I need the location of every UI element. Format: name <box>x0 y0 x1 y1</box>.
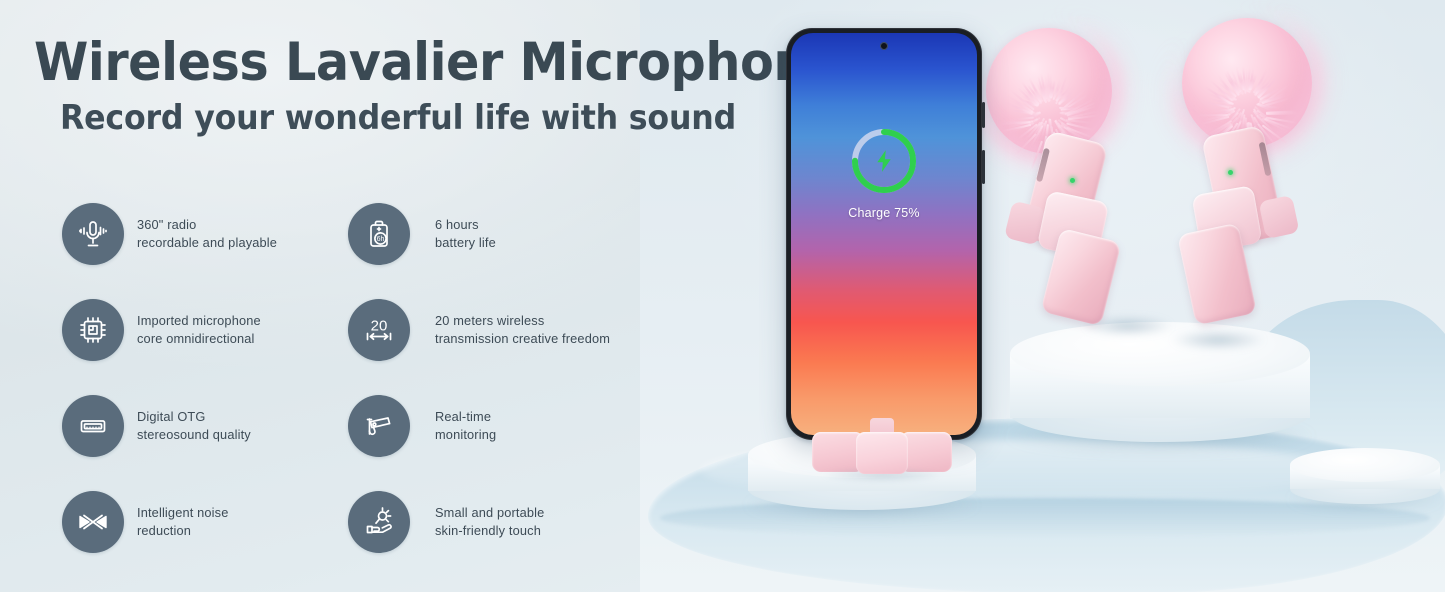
hand-holding-product-icon <box>348 491 410 553</box>
mic-right-shadow <box>1170 330 1266 350</box>
feature-line-1: Digital OTG <box>137 409 206 424</box>
phone-volume-button[interactable] <box>982 102 985 128</box>
feature-line-2: monitoring <box>435 426 496 444</box>
feature-item-360-radio: 360" radio recordable and playable <box>62 186 348 282</box>
phone-screen: Charge 75% <box>791 33 977 435</box>
smartphone: Charge 75% <box>786 28 982 440</box>
svg-text:6h: 6h <box>377 236 385 243</box>
feature-line-2: core omnidirectional <box>137 330 261 348</box>
feature-text: Digital OTG stereosound quality <box>137 408 251 444</box>
svg-text:20: 20 <box>371 318 388 335</box>
feature-line-1: 20 meters wireless <box>435 313 544 328</box>
noise-reduction-icon <box>62 491 124 553</box>
feature-line-2: reduction <box>137 522 228 540</box>
podium-far <box>1290 448 1440 504</box>
feature-text: Small and portable skin-friendly touch <box>435 504 544 540</box>
charge-status-label: Charge 75% <box>848 206 920 220</box>
battery-6h-icon: 6h <box>348 203 410 265</box>
feature-line-1: 6 hours <box>435 217 479 232</box>
feature-line-2: skin-friendly touch <box>435 522 544 540</box>
lightning-bolt-icon <box>871 148 897 174</box>
phone-power-button[interactable] <box>982 150 985 184</box>
feature-line-1: 360" radio <box>137 217 196 232</box>
feature-item-imported-core: Imported microphone core omnidirectional <box>62 282 348 378</box>
feature-line-2: stereosound quality <box>137 426 251 444</box>
mic-right-led-indicator <box>1228 170 1233 175</box>
front-camera-icon <box>880 42 888 50</box>
distance-20-meters-icon: 20 <box>348 299 410 361</box>
feature-line-2: recordable and playable <box>137 234 277 252</box>
feature-line-2: battery life <box>435 234 496 252</box>
feature-item-small-portable: Small and portable skin-friendly touch <box>348 474 648 570</box>
charge-progress-ring <box>848 125 920 197</box>
mic-left-led-indicator <box>1070 178 1075 183</box>
receiver-body <box>812 432 952 474</box>
usb-port-icon <box>62 395 124 457</box>
feature-text: 360" radio recordable and playable <box>137 216 277 252</box>
feature-item-digital-otg: Digital OTG stereosound quality <box>62 378 348 474</box>
feature-text: Real-time monitoring <box>435 408 496 444</box>
page-title: Wireless Lavalier Microphone <box>34 32 841 93</box>
lavalier-microphone-left <box>986 28 1156 328</box>
page-subtitle: Record your wonderful life with sound <box>60 98 736 138</box>
feature-item-noise-reduction: Intelligent noise reduction <box>62 474 348 570</box>
feature-list: 360" radio recordable and playable 6h 6 … <box>62 186 682 570</box>
feature-item-battery-life: 6h 6 hours battery life <box>348 186 648 282</box>
receiver-segment-center <box>856 432 908 474</box>
feature-text: 6 hours battery life <box>435 216 496 252</box>
feature-item-real-time-monitoring: Real-time monitoring <box>348 378 648 474</box>
feature-text: 20 meters wireless transmission creative… <box>435 312 610 348</box>
feature-item-20-meters: 20 20 meters wireless transmission creat… <box>348 282 648 378</box>
chip-processor-icon <box>62 299 124 361</box>
mic-right-clip-arm <box>1258 195 1299 239</box>
feature-line-1: Imported microphone <box>137 313 261 328</box>
lavalier-microphone-right <box>1150 18 1330 348</box>
microphone-soundwave-icon <box>62 203 124 265</box>
security-camera-icon <box>348 395 410 457</box>
feature-line-1: Real-time <box>435 409 491 424</box>
feature-line-1: Intelligent noise <box>137 505 228 520</box>
podium-far-top <box>1290 448 1440 482</box>
feature-line-1: Small and portable <box>435 505 544 520</box>
feature-line-2: transmission creative freedom <box>435 330 610 348</box>
charging-widget: Charge 75% <box>848 125 920 220</box>
feature-text: Intelligent noise reduction <box>137 504 228 540</box>
wireless-receiver-dongle <box>812 418 952 474</box>
feature-text: Imported microphone core omnidirectional <box>137 312 261 348</box>
